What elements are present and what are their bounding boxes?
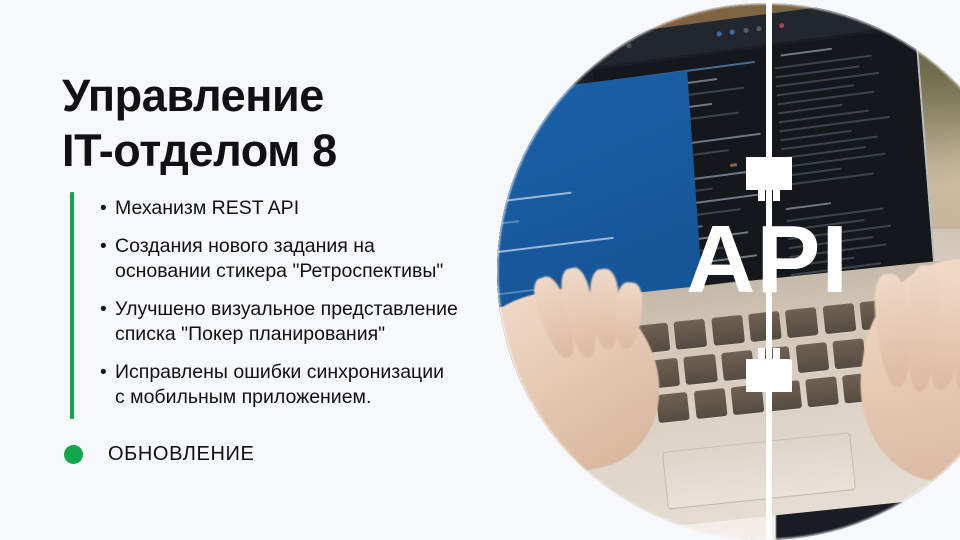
bullet-list: • Механизм REST API • Создания нового за… bbox=[95, 196, 565, 410]
laptop-trackpad bbox=[662, 432, 856, 510]
bullet-marker-icon: • bbox=[95, 196, 115, 221]
bullet-marker-icon: • bbox=[95, 234, 115, 259]
plug-icon bbox=[746, 348, 792, 392]
plug-prong bbox=[773, 188, 780, 201]
accent-bar bbox=[70, 192, 74, 419]
status-dot-icon bbox=[64, 445, 83, 464]
status-badge-label: ОБНОВЛЕНИЕ bbox=[108, 443, 254, 466]
window-dot-icon bbox=[742, 28, 747, 34]
plug-prong bbox=[758, 348, 765, 361]
list-item: • Механизм REST API bbox=[95, 196, 565, 221]
list-item: • Создания нового задания на основании с… bbox=[95, 234, 565, 284]
window-dot-icon bbox=[778, 23, 783, 29]
window-dot-icon bbox=[626, 43, 631, 49]
list-item: • Улучшено визуальное представление спис… bbox=[95, 297, 565, 347]
api-overlay-text: API bbox=[686, 212, 849, 308]
list-item: • Исправлены ошибки синхронизации с моби… bbox=[95, 360, 565, 410]
window-dot-icon bbox=[613, 45, 618, 51]
plug-body bbox=[746, 359, 792, 392]
window-dot-icon bbox=[756, 26, 761, 32]
plug-icon bbox=[746, 157, 792, 201]
window-dot-icon bbox=[729, 30, 734, 36]
slide-canvas: Управление IT-отделом 8 • Механизм REST … bbox=[0, 0, 960, 540]
bullet-marker-icon: • bbox=[95, 297, 115, 322]
bullet-marker-icon: • bbox=[95, 360, 115, 385]
plug-body bbox=[746, 157, 792, 190]
plug-prong bbox=[773, 348, 780, 361]
status-badge: ОБНОВЛЕНИЕ bbox=[64, 443, 254, 466]
window-dot-icon bbox=[716, 31, 721, 37]
window-dot-icon bbox=[599, 47, 604, 53]
plug-prong bbox=[758, 188, 765, 201]
